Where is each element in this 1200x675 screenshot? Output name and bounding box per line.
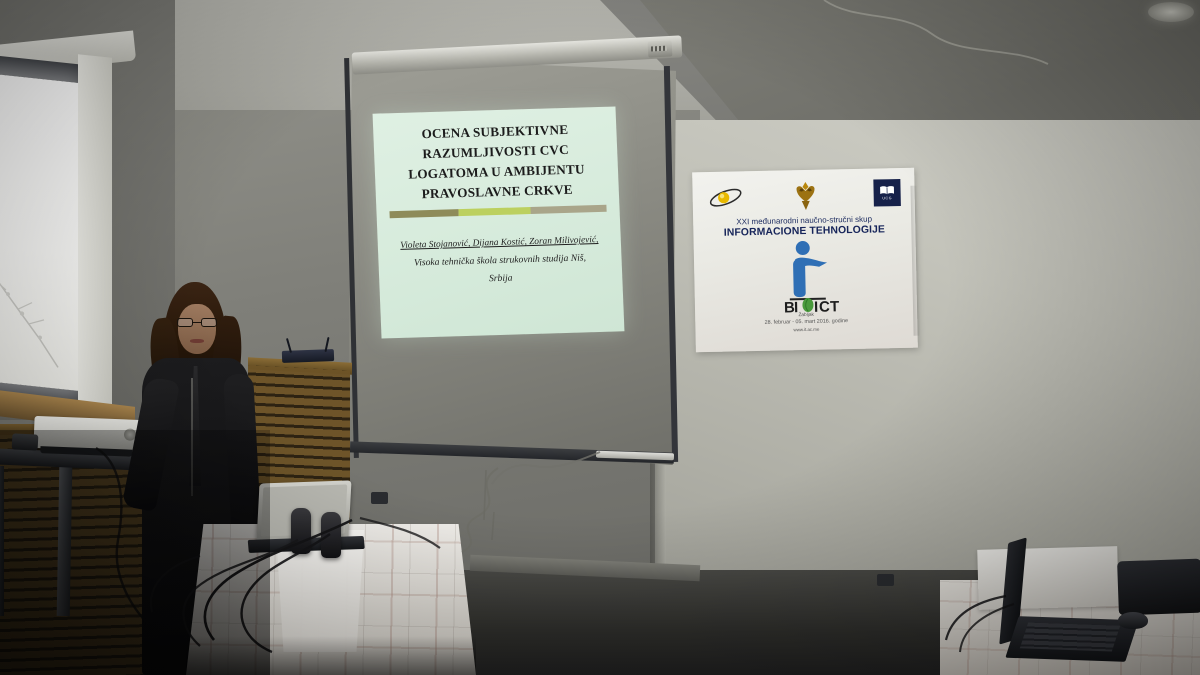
slide-title: OCENA SUBJEKTIVNE RAZUMLJIVOSTI CVC LOGA… xyxy=(384,119,608,206)
black-laptop-keyboard xyxy=(1020,623,1120,652)
banner-logo-row: UCG xyxy=(700,178,907,216)
desktop-speaker-right xyxy=(321,512,341,558)
wall-outlet-right xyxy=(877,574,894,586)
svg-text:I: I xyxy=(794,299,799,314)
slide-authors-block: Violeta Stojanović, Dijana Kostić, Zoran… xyxy=(389,232,612,291)
conference-banner: UCG XXI međunarodni naučno-stručni skup … xyxy=(692,168,918,353)
slide-divider-bar xyxy=(389,205,606,218)
eyeglasses-icon xyxy=(177,318,217,327)
desktop-speaker-left xyxy=(291,508,311,554)
planet-swoosh-logo-icon xyxy=(708,185,742,210)
slide-bar-segment-3 xyxy=(530,205,606,214)
screen-roller-end-cap xyxy=(648,40,673,57)
banner-footer: Žabljak 28. februar - 05. mart 2016. god… xyxy=(703,311,909,335)
lower-left-shadow xyxy=(0,430,270,675)
projected-slide: OCENA SUBJEKTIVNE RAZUMLJIVOSTI CVC LOGA… xyxy=(373,106,625,338)
bioict-logo-icon: B I I C T xyxy=(702,237,910,315)
wall-outlet-left xyxy=(371,492,388,504)
presenter-face xyxy=(178,304,216,354)
white-box xyxy=(977,546,1119,610)
conference-room-photo: OCENA SUBJEKTIVNE RAZUMLJIVOSTI CVC LOGA… xyxy=(0,0,1200,675)
svg-text:T: T xyxy=(830,298,840,314)
camera-bag xyxy=(1117,559,1200,616)
slide-bar-segment-2 xyxy=(459,207,531,216)
window-jamb xyxy=(78,54,112,410)
ucg-label: UCG xyxy=(882,196,892,200)
svg-text:I: I xyxy=(814,299,819,314)
ucg-book-logo-icon: UCG xyxy=(873,179,901,207)
svg-text:C: C xyxy=(819,298,830,314)
recessed-light-icon xyxy=(1148,2,1194,22)
slide-bar-segment-1 xyxy=(389,209,459,218)
presenter-mouth xyxy=(190,339,204,343)
computer-mouse xyxy=(1118,612,1148,629)
tree-branch-silhouette xyxy=(0,264,64,372)
montenegro-coat-of-arms-icon xyxy=(790,180,821,213)
